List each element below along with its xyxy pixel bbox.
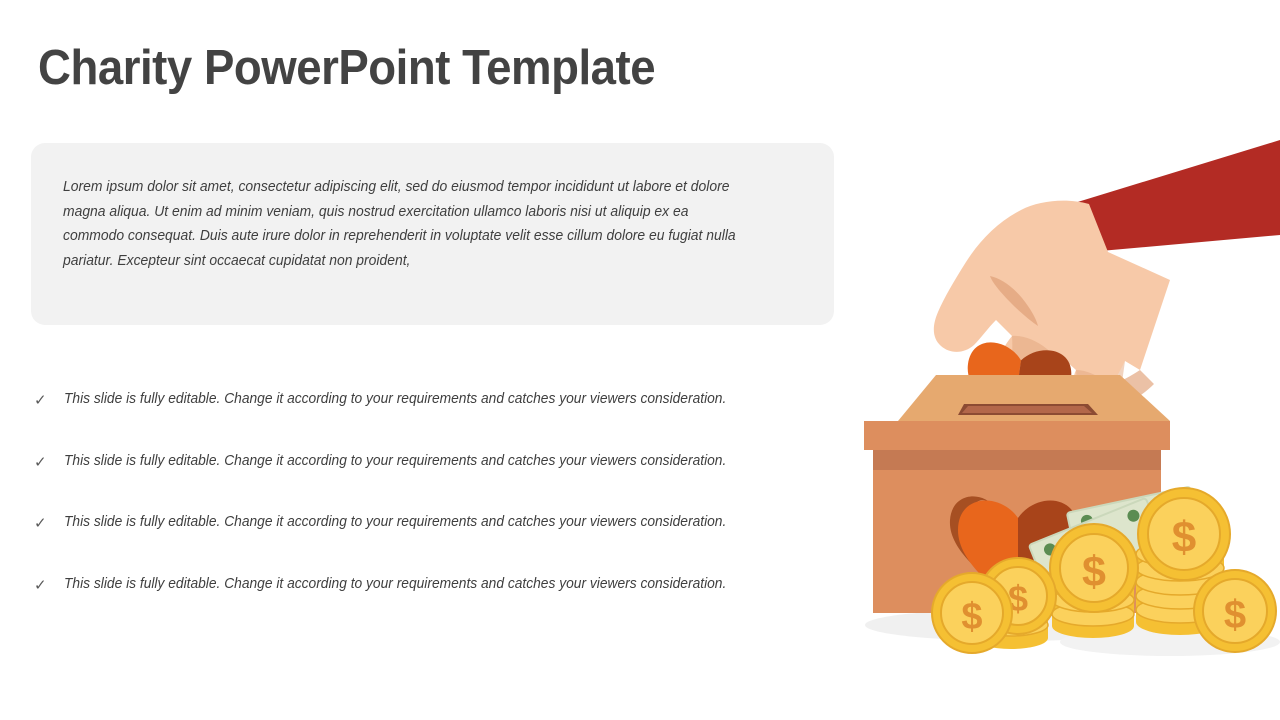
page-title: Charity PowerPoint Template [38, 40, 875, 96]
coin-upright-top: $ [1138, 488, 1230, 580]
coin-upright-right: $ [1194, 570, 1276, 652]
coin-upright-left: $ [932, 573, 1012, 653]
body-text-panel: Lorem ipsum dolor sit amet, consectetur … [31, 143, 834, 325]
svg-text:$: $ [961, 596, 982, 638]
check-icon: ✓ [34, 450, 64, 474]
check-icon: ✓ [34, 388, 64, 412]
svg-text:$: $ [1224, 593, 1246, 637]
donation-box-illustration: $ $ [840, 130, 1280, 670]
list-item: ✓ This slide is fully editable. Change i… [34, 450, 824, 512]
svg-text:$: $ [1082, 548, 1106, 596]
list-item: ✓ This slide is fully editable. Change i… [34, 573, 824, 635]
check-icon: ✓ [34, 511, 64, 535]
body-paragraph: Lorem ipsum dolor sit amet, consectetur … [63, 175, 747, 273]
box-band [873, 450, 1161, 470]
box-lid-rim [864, 421, 1170, 450]
list-item-label: This slide is fully editable. Change it … [64, 388, 782, 411]
check-icon: ✓ [34, 573, 64, 597]
svg-text:$: $ [1172, 513, 1196, 562]
list-item-label: This slide is fully editable. Change it … [64, 511, 782, 534]
bullet-list: ✓ This slide is fully editable. Change i… [34, 388, 824, 634]
coin-upright-center: $ [1050, 524, 1138, 612]
box-slot-inner [962, 406, 1092, 413]
list-item-label: This slide is fully editable. Change it … [64, 450, 782, 473]
slide-canvas: Charity PowerPoint Template Lorem ipsum … [0, 0, 1280, 720]
list-item-label: This slide is fully editable. Change it … [64, 573, 782, 596]
list-item: ✓ This slide is fully editable. Change i… [34, 511, 824, 573]
list-item: ✓ This slide is fully editable. Change i… [34, 388, 824, 450]
